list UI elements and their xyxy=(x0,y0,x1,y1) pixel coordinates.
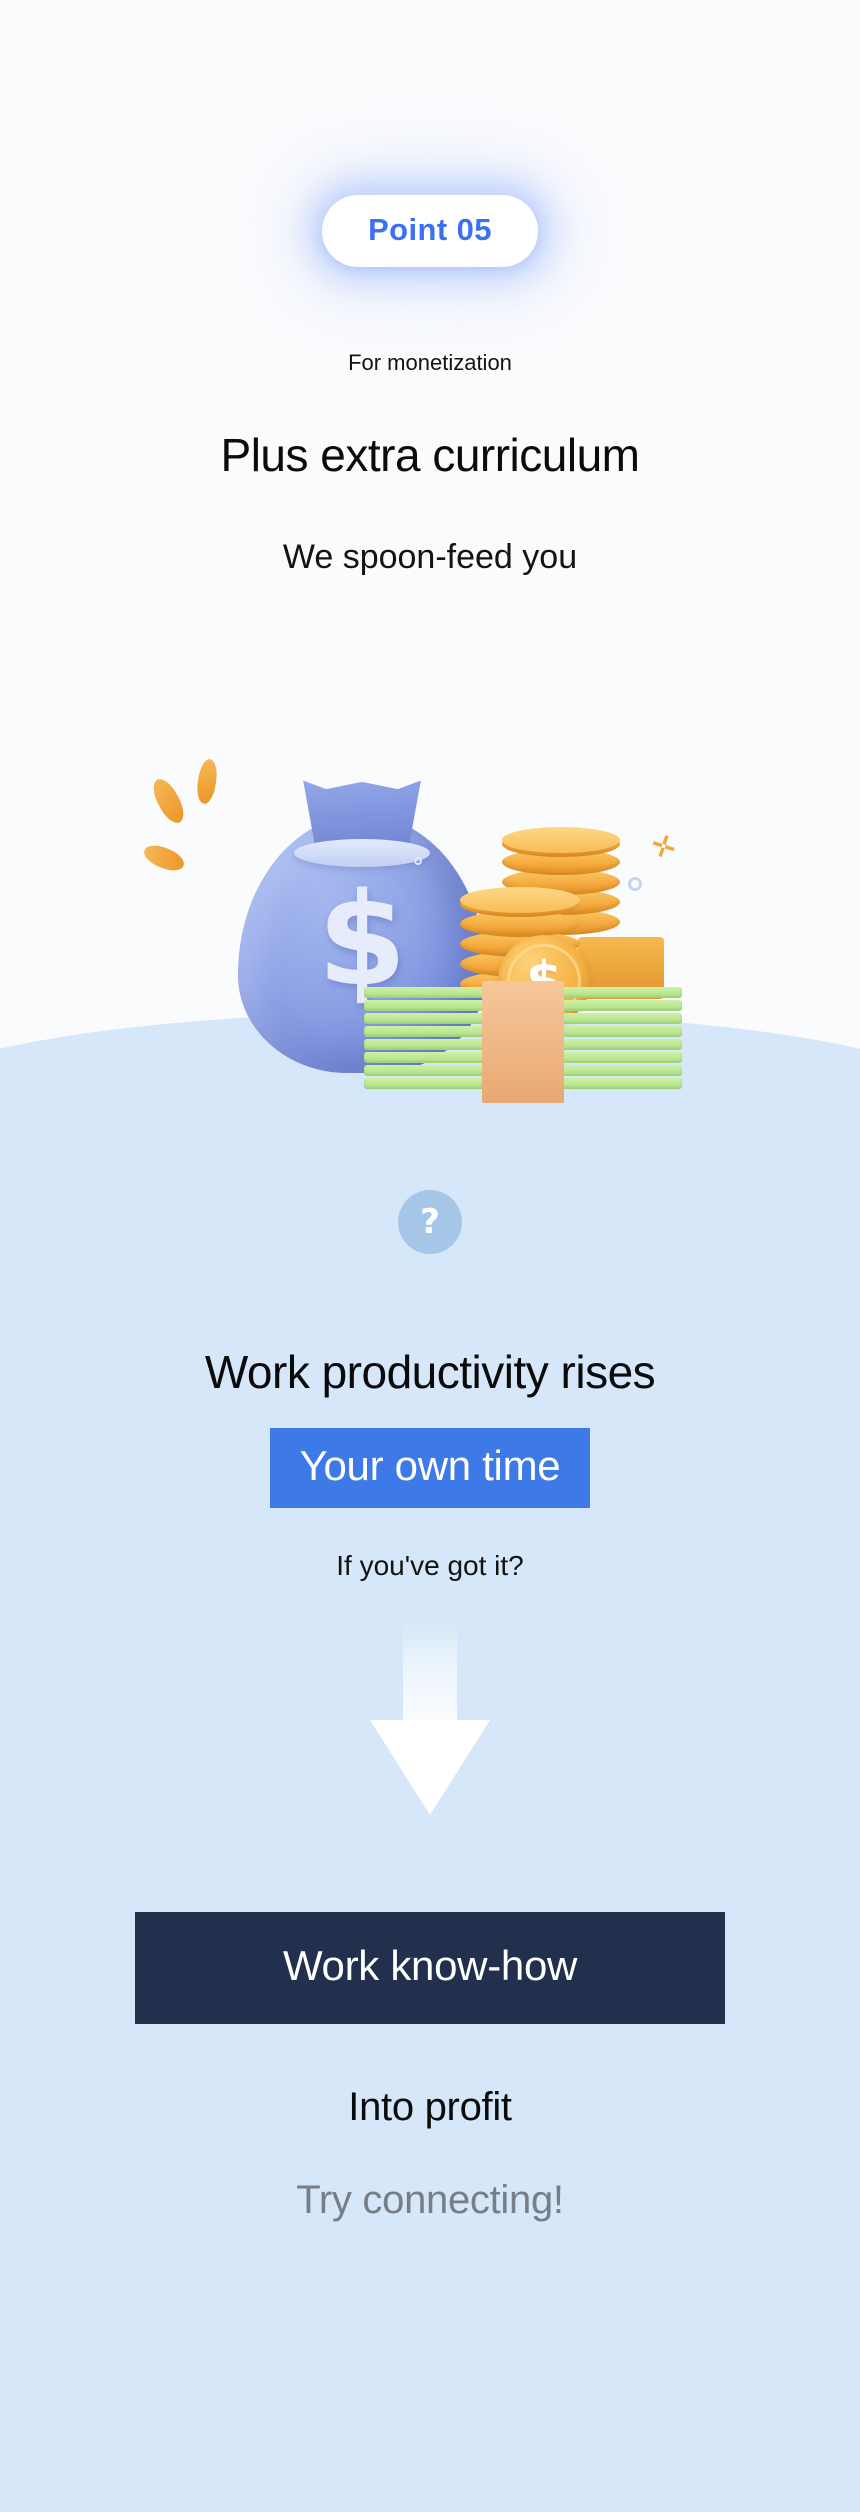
question-mark-icon: ? xyxy=(398,1190,462,1254)
money-illustration: $ $ xyxy=(150,715,710,1115)
badge-container: Point 05 xyxy=(0,195,860,267)
down-arrow-icon xyxy=(370,1620,490,1815)
page-title: Plus extra curriculum xyxy=(0,428,860,482)
sparkle-plus-icon: ✛ xyxy=(647,832,680,865)
spark-icon xyxy=(141,841,187,875)
bag-tie xyxy=(294,839,430,867)
subtitle-text: We spoon-feed you xyxy=(0,538,860,577)
try-connecting-text: Try connecting! xyxy=(0,2178,860,2223)
point-badge[interactable]: Point 05 xyxy=(322,195,538,267)
highlight-container: Your own time xyxy=(0,1428,860,1508)
into-profit-text: Into profit xyxy=(0,2085,860,2130)
cta-container: Work know-how xyxy=(0,1912,860,2024)
ring-decoration-icon xyxy=(628,877,642,891)
spark-icon xyxy=(148,775,189,827)
dollar-sign-icon: $ xyxy=(238,877,486,1005)
arrow-head xyxy=(370,1720,490,1815)
highlight-badge: Your own time xyxy=(270,1428,591,1508)
promo-page: Point 05 For monetization Plus extra cur… xyxy=(0,0,860,2409)
eyebrow-text: For monetization xyxy=(0,350,860,376)
got-it-text: If you've got it? xyxy=(0,1550,860,1582)
cash-stack-icon xyxy=(364,987,682,1097)
work-knowhow-button[interactable]: Work know-how xyxy=(135,1912,725,2024)
work-productivity-heading: Work productivity rises xyxy=(0,1345,860,1399)
question-icon-container: ? xyxy=(0,1190,860,1254)
spark-icon xyxy=(195,758,219,805)
dot-decoration-icon xyxy=(414,857,422,865)
cash-band xyxy=(482,981,564,1103)
